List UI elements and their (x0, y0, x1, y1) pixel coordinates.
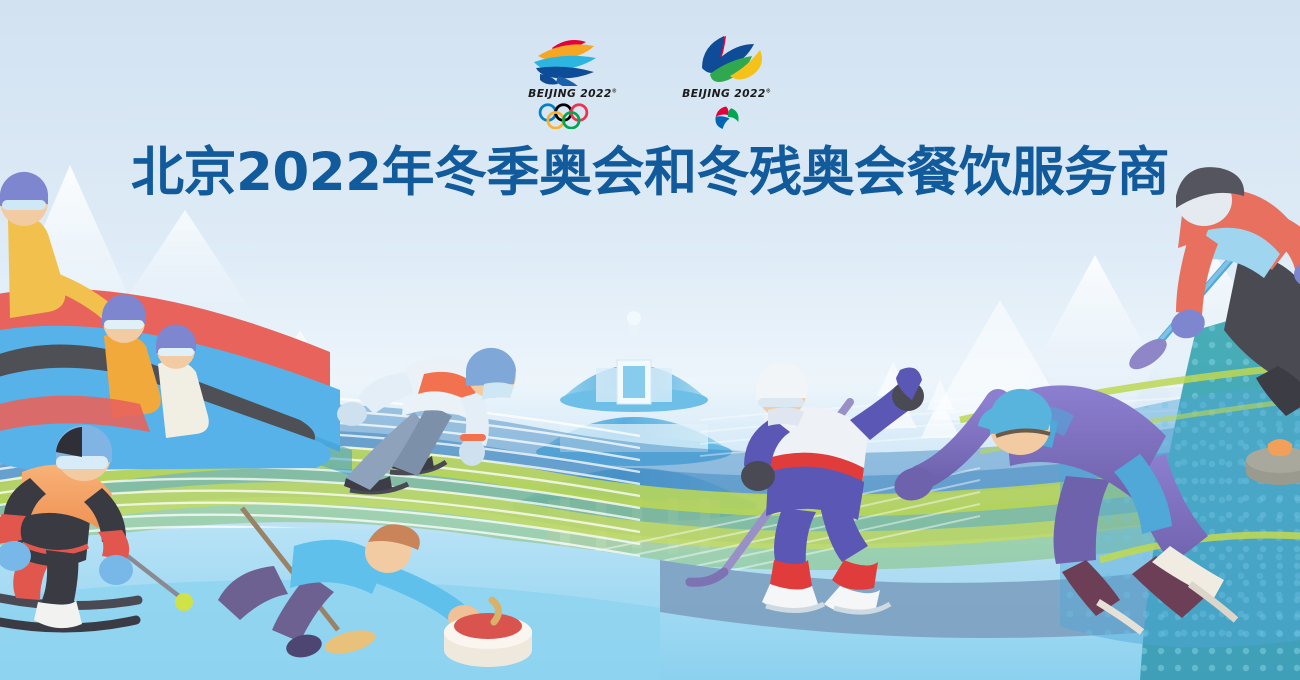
beijing-2022-paralympic-emblem-icon (672, 34, 782, 86)
athlete-ice-hockey-player (690, 363, 924, 613)
athlete-curler-delivery (218, 508, 532, 667)
olympic-rings-icon (528, 103, 618, 129)
paralympic-logo-block: BEIJING 2022® (672, 34, 782, 129)
athlete-speed-skater-white (337, 348, 516, 492)
emblem-row: BEIJING 2022® BEIJING 202 (0, 34, 1300, 144)
olympic-wordmark: BEIJING 2022® (528, 88, 617, 100)
paralympic-agitos-icon (682, 103, 772, 129)
page-title: 北京2022年冬季奥会和冬残奥会餐饮服务商 (0, 143, 1300, 203)
athlete-bobsleigh-team (0, 172, 331, 470)
paralympic-wordmark: BEIJING 2022® (682, 88, 771, 100)
beijing-2022-olympic-emblem-icon (518, 34, 628, 86)
olympic-logo-block: BEIJING 2022® (518, 34, 628, 129)
athlete-speed-skater-purple (890, 385, 1236, 632)
beijing-2022-banner: BEIJING 2022® BEIJING 202 (0, 0, 1300, 680)
